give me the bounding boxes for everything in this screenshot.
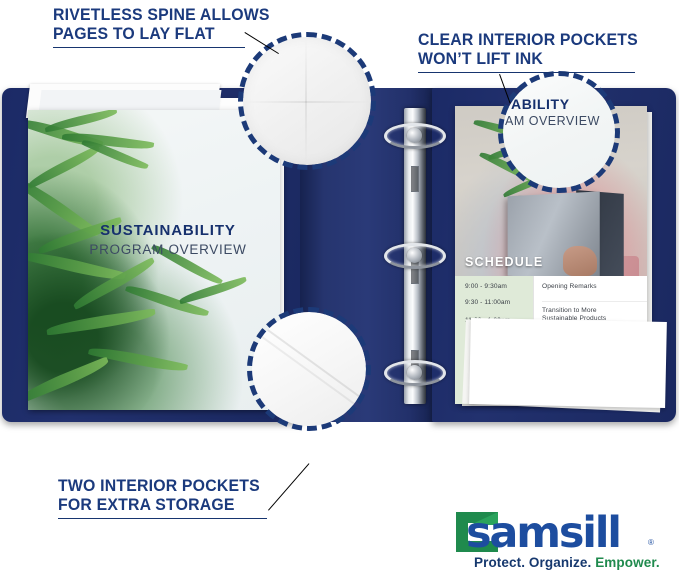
row-divider: [542, 301, 647, 302]
schedule-heading-text: SCHEDULE: [465, 255, 543, 269]
schedule-heading: SCHEDULE: [455, 248, 647, 276]
ring-hub-2: [407, 248, 422, 263]
leader-line-storage: [268, 463, 309, 510]
schedule-description: Opening Remarks: [542, 283, 647, 292]
protruding-sheet-front: [469, 318, 667, 408]
tagline-empower: Empower.: [595, 555, 660, 570]
sustainability-cover-sheet: SUSTAINABILITY PROGRAM OVERVIEW: [28, 110, 280, 410]
callout-rivetless-spine: RIVETLESS SPINE ALLOWS PAGES TO LAY FLAT: [53, 6, 279, 48]
ring-hub-1: [407, 128, 422, 143]
magnifier-pocket-ring: [247, 307, 371, 431]
callout-line-1: TWO INTERIOR POCKETS: [58, 477, 260, 496]
callout-line-1: RIVETLESS SPINE ALLOWS: [53, 6, 270, 25]
logo-wordmark: samsill: [466, 508, 620, 558]
document-title: SUSTAINABILITY: [68, 222, 268, 239]
callout-clear-interior-pockets: CLEAR INTERIOR POCKETS WON’T LIFT INK: [418, 31, 647, 73]
callout-underline: [58, 518, 267, 519]
magnifier-spine-ring: [238, 32, 376, 170]
document-subtitle: PROGRAM OVERVIEW: [68, 242, 268, 257]
magnifier-document-ring: [498, 71, 620, 193]
document-title-block: SUSTAINABILITY PROGRAM OVERVIEW: [68, 222, 268, 257]
product-feature-image: SUSTAINABILITY PROGRAM OVERVIEW: [0, 0, 679, 576]
callout-line-2: FOR EXTRA STORAGE: [58, 496, 260, 515]
callout-line-2: PAGES TO LAY FLAT: [53, 25, 270, 44]
ring-hub-3: [407, 365, 422, 380]
callout-line-1: CLEAR INTERIOR POCKETS: [418, 31, 638, 50]
callout-two-interior-pockets: TWO INTERIOR POCKETS FOR EXTRA STORAGE: [58, 477, 268, 519]
schedule-time: 9:30 - 11:00am: [455, 299, 533, 306]
callout-underline: [418, 72, 635, 73]
tagline-protect: Protect.: [474, 555, 525, 570]
tagline-organize: Organize.: [529, 555, 591, 570]
callout-underline: [53, 47, 245, 48]
logo-registered-mark: ®: [648, 538, 654, 547]
logo-tagline: Protect. Organize. Empower.: [474, 555, 660, 570]
samsill-logo: samsill ® Protect. Organize. Empower.: [452, 508, 670, 570]
callout-line-2: WON’T LIFT INK: [418, 50, 638, 69]
schedule-time: 9:00 - 9:30am: [455, 283, 533, 290]
